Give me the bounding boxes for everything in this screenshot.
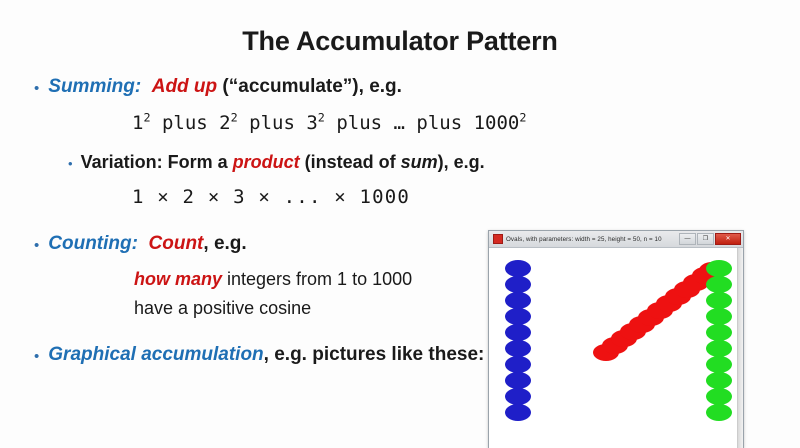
bullet-graphical-emphasis: Graphical accumulation xyxy=(48,344,263,365)
bullet-summing-rest: (“accumulate”), e.g. xyxy=(217,76,402,97)
window-controls: — ❐ ✕ xyxy=(679,233,741,245)
bullet-counting: • Counting: Count, e.g. xyxy=(34,232,247,256)
bullet-counting-text: Counting: Count, e.g. xyxy=(48,232,246,256)
code-line-sum-of-squares: 12 plus 22 plus 32 plus … plus 10002 xyxy=(132,111,526,134)
code-line-sum-text: 12 plus 22 plus 32 plus … plus 10002 xyxy=(132,112,526,134)
window-titlebar[interactable]: Ovals, with parameters: width = 25, heig… xyxy=(489,231,743,248)
bullet-glyph-icon: • xyxy=(34,349,39,364)
bullet-summing: • Summing: Add up (“accumulate”), e.g. xyxy=(34,75,402,99)
sub-bullet-variation: • Variation: Form a product (instead of … xyxy=(68,151,485,174)
oval-blue xyxy=(505,324,531,341)
oval-green xyxy=(706,292,732,309)
maximize-icon: ❐ xyxy=(703,236,708,242)
oval-blue xyxy=(505,292,531,309)
canvas-right-edge[interactable] xyxy=(737,248,743,448)
oval-blue xyxy=(505,372,531,389)
close-button[interactable]: ✕ xyxy=(715,233,741,245)
app-window[interactable]: Ovals, with parameters: width = 25, heig… xyxy=(488,230,744,448)
bullet-counting-emphasis: Count xyxy=(149,233,204,254)
oval-green xyxy=(706,324,732,341)
bullet-graphical: • Graphical accumulation, e.g. pictures … xyxy=(34,343,484,367)
minimize-button[interactable]: — xyxy=(679,233,696,245)
counting-detail-line1: how many integers from 1 to 1000 xyxy=(134,269,412,290)
oval-blue xyxy=(505,404,531,421)
oval-blue xyxy=(505,276,531,293)
minimize-icon: — xyxy=(685,236,691,242)
oval-green xyxy=(706,308,732,325)
bullet-counting-rest: , e.g. xyxy=(203,233,246,254)
bullet-graphical-text: Graphical accumulation, e.g. pictures li… xyxy=(48,343,484,367)
counting-detail-line2: have a positive cosine xyxy=(134,298,311,319)
counting-detail-emphasis: how many xyxy=(134,269,222,289)
sub-bullet-variation-text: Variation: Form a product (instead of su… xyxy=(81,151,485,174)
page-title: The Accumulator Pattern xyxy=(0,26,800,57)
code-line-product: 1 × 2 × 3 × ... × 1000 xyxy=(132,186,410,208)
bullet-summing-label: Summing: xyxy=(48,76,141,97)
bullet-summing-emphasis: Add up xyxy=(152,76,217,97)
oval-blue xyxy=(505,260,531,277)
sub-bullet-variation-mid: (instead of xyxy=(300,152,401,172)
oval-blue xyxy=(505,388,531,405)
bullet-glyph-icon: • xyxy=(34,81,39,96)
close-icon: ✕ xyxy=(725,236,730,242)
sub-bullet-variation-emphasis: product xyxy=(233,152,300,172)
sub-bullet-variation-italic: sum xyxy=(401,152,438,172)
oval-green xyxy=(706,276,732,293)
bullet-summing-text: Summing: Add up (“accumulate”), e.g. xyxy=(48,75,402,99)
oval-green xyxy=(706,260,732,277)
oval-green xyxy=(706,388,732,405)
oval-green xyxy=(706,356,732,373)
bullet-counting-label: Counting: xyxy=(48,233,138,254)
oval-green xyxy=(706,404,732,421)
oval-green xyxy=(706,372,732,389)
app-icon xyxy=(493,234,503,244)
oval-blue xyxy=(505,356,531,373)
oval-blue xyxy=(505,308,531,325)
drawing-canvas xyxy=(489,248,743,448)
slide-canvas: The Accumulator Pattern • Summing: Add u… xyxy=(0,0,800,448)
oval-blue xyxy=(505,340,531,357)
maximize-button[interactable]: ❐ xyxy=(697,233,714,245)
counting-detail-rest: integers from 1 to 1000 xyxy=(222,269,412,289)
bullet-glyph-icon: • xyxy=(68,157,73,170)
sub-bullet-variation-lead: Variation: Form a xyxy=(81,152,233,172)
bullet-graphical-rest: , e.g. pictures like these: xyxy=(264,344,485,365)
window-title: Ovals, with parameters: width = 25, heig… xyxy=(506,236,679,243)
sub-bullet-variation-rest: ), e.g. xyxy=(438,152,485,172)
oval-green xyxy=(706,340,732,357)
bullet-glyph-icon: • xyxy=(34,238,39,253)
